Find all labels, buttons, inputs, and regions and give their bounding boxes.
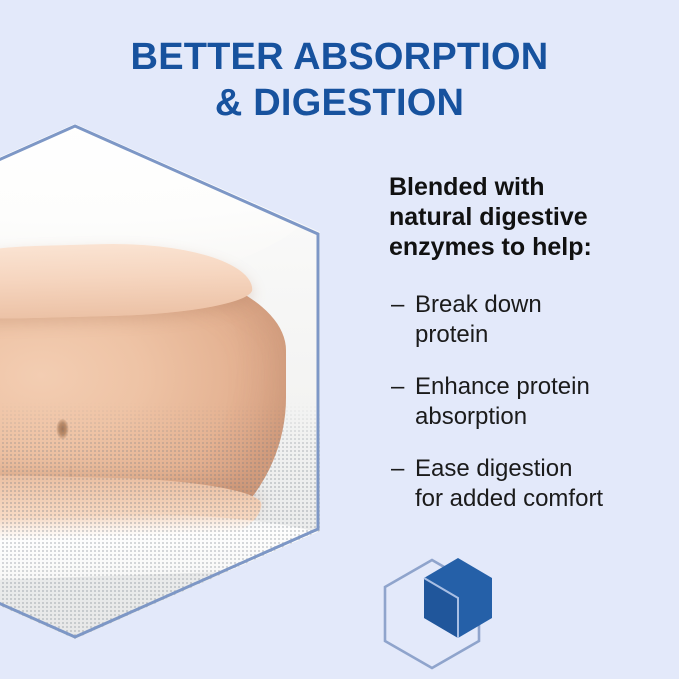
page-title-line-2: & DIGESTION bbox=[0, 80, 679, 126]
list-item-label: Enhance protein absorption bbox=[415, 372, 669, 432]
page-title-line-1: BETTER ABSORPTION bbox=[0, 34, 679, 80]
hexagon-photo-frame bbox=[0, 124, 320, 639]
subheading: Blended with natural digestive enzymes t… bbox=[389, 172, 649, 262]
bullet-dash-icon: – bbox=[391, 372, 407, 402]
photo-halftone-texture bbox=[0, 402, 320, 639]
lifestyle-photo bbox=[0, 124, 320, 639]
bullet-dash-icon: – bbox=[391, 290, 407, 320]
bullet-dash-icon: – bbox=[391, 454, 407, 484]
subheading-line-1: Blended with bbox=[389, 172, 649, 202]
list-item: – Ease digestion for added comfort bbox=[389, 454, 669, 514]
list-item-label: Break down protein bbox=[415, 290, 669, 350]
hexagon-decoration bbox=[368, 548, 548, 679]
list-item-label: Ease digestion for added comfort bbox=[415, 454, 669, 514]
list-item: – Break down protein bbox=[389, 290, 669, 350]
subheading-line-2: natural digestive bbox=[389, 202, 649, 232]
list-item: – Enhance protein absorption bbox=[389, 372, 669, 432]
benefit-list: – Break down protein – Enhance protein a… bbox=[389, 290, 669, 536]
subheading-line-3: enzymes to help: bbox=[389, 232, 649, 262]
page-title: BETTER ABSORPTION & DIGESTION bbox=[0, 34, 679, 126]
promo-infographic: BETTER ABSORPTION & DIGESTION Blended wi… bbox=[0, 0, 679, 679]
